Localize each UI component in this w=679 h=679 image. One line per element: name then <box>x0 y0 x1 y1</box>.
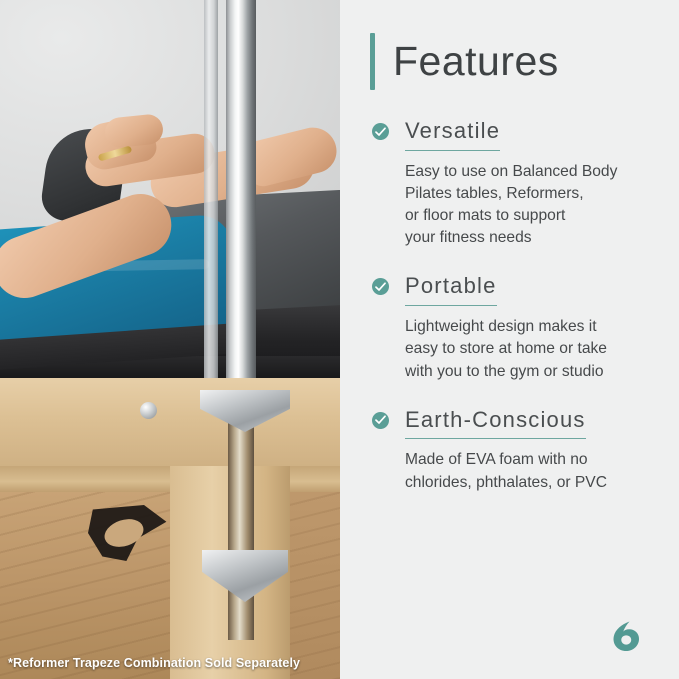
page-title: Features <box>393 41 559 82</box>
features-heading: Features <box>370 33 559 90</box>
trapeze-pole-lower <box>228 400 254 640</box>
feature-content: Portable Lightweight design makes it eas… <box>405 273 665 382</box>
trapeze-back-pole <box>204 0 218 388</box>
feature-title: Versatile <box>405 118 500 151</box>
feature-panel-graphic: *Reformer Trapeze Combination Sold Separ… <box>0 0 679 679</box>
feature-item: Versatile Easy to use on Balanced Body P… <box>372 118 665 249</box>
feature-title: Portable <box>405 273 497 306</box>
features-list: Versatile Easy to use on Balanced Body P… <box>372 118 665 494</box>
wood-floor-right <box>290 466 340 679</box>
balanced-body-logo <box>606 616 646 656</box>
heading-accent-bar <box>370 33 375 90</box>
photo-caption: *Reformer Trapeze Combination Sold Separ… <box>8 656 334 670</box>
feature-content: Earth-Conscious Made of EVA foam with no… <box>405 407 665 494</box>
feature-content: Versatile Easy to use on Balanced Body P… <box>405 118 665 249</box>
feature-item: Portable Lightweight design makes it eas… <box>372 273 665 382</box>
check-circle-icon <box>372 412 389 429</box>
feature-title: Earth-Conscious <box>405 407 586 440</box>
feature-item: Earth-Conscious Made of EVA foam with no… <box>372 407 665 494</box>
check-circle-icon <box>372 278 389 295</box>
feature-description: Easy to use on Balanced Body Pilates tab… <box>405 161 665 250</box>
product-photo: *Reformer Trapeze Combination Sold Separ… <box>0 0 340 679</box>
check-circle-icon <box>372 123 389 140</box>
frame-knob <box>140 402 157 419</box>
features-panel: Features Versatile Easy to use on Balanc… <box>340 0 679 679</box>
feature-description: Lightweight design makes it easy to stor… <box>405 316 665 382</box>
feature-description: Made of EVA foam with no chlorides, phth… <box>405 449 665 493</box>
